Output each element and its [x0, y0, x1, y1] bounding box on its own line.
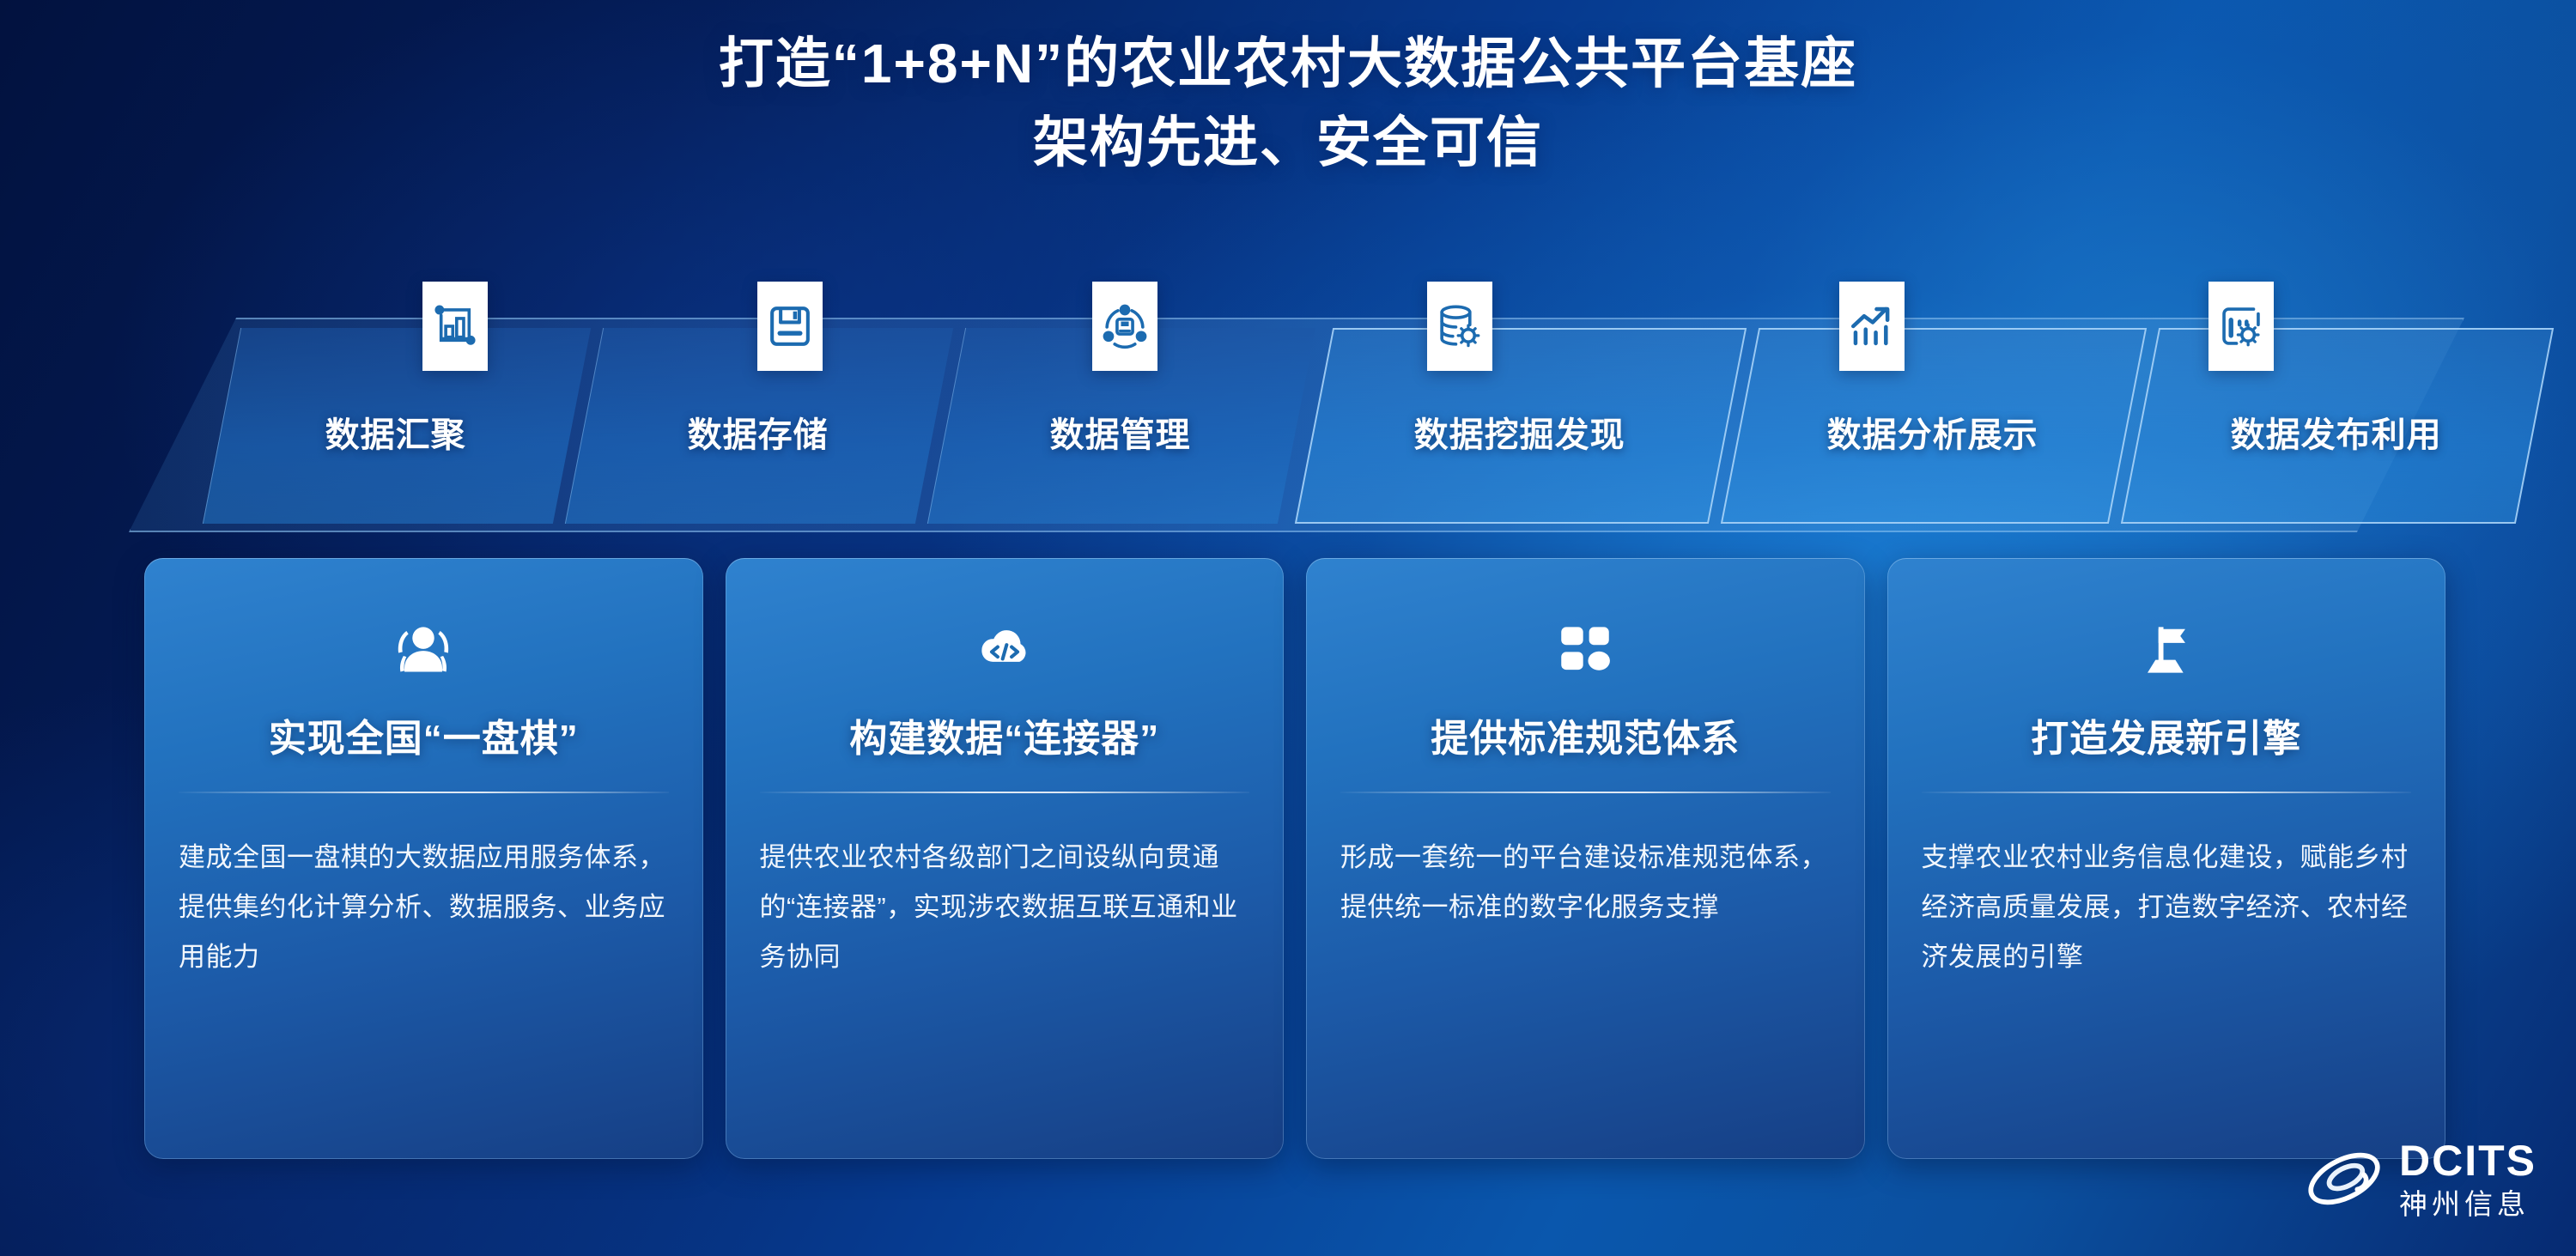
value-card-4[interactable]: 打造发展新引擎 支撑农业农村业务信息化建设，赋能乡村经济高质量发展，打造数字经济…	[1887, 558, 2446, 1159]
value-card-2-title: 构建数据“连接器”	[760, 707, 1250, 762]
pipeline-stage-5[interactable]: 数据分析展示	[1721, 328, 2147, 524]
pipeline-stage-4-label: 数据挖掘发现	[1414, 407, 1625, 457]
title-block: 打造“1+8+N”的农业农村大数据公共平台基座 架构先进、安全可信	[0, 24, 2576, 182]
value-card-3-body: 形成一套统一的平台建设标准规范体系，提供统一标准的数字化服务支撑	[1340, 833, 1831, 932]
company-logo: DCITS 神州信息	[2303, 1139, 2537, 1218]
value-card-2[interactable]: 构建数据“连接器” 提供农业农村各级部门之间设纵向贯通的“连接器”，实现涉农数据…	[726, 558, 1285, 1159]
cloud-code-icon	[760, 616, 1250, 683]
card-divider	[1340, 792, 1831, 793]
value-card-3[interactable]: 提供标准规范体系 形成一套统一的平台建设标准规范体系，提供统一标准的数字化服务支…	[1306, 558, 1865, 1159]
pipeline-stage-4[interactable]: 数据挖掘发现	[1295, 328, 1747, 524]
value-card-3-title: 提供标准规范体系	[1340, 707, 1831, 762]
flag-icon	[1922, 616, 2412, 683]
pipeline-stage-6[interactable]: 数据发布利用	[2121, 328, 2554, 524]
card-divider	[1922, 792, 2412, 793]
slide-canvas: 打造“1+8+N”的农业农村大数据公共平台基座 架构先进、安全可信 数据汇聚	[0, 0, 2576, 1256]
bar-chart-connect-icon	[422, 282, 488, 371]
logo-sub-chinese: 神州信息	[2399, 1190, 2537, 1218]
value-card-1-title: 实现全国“一盘棋”	[179, 707, 669, 762]
value-cards-row: 实现全国“一盘棋” 建成全国一盘棋的大数据应用服务体系，提供集约化计算分析、数据…	[144, 558, 2445, 1159]
logo-text: DCITS 神州信息	[2399, 1139, 2537, 1218]
value-card-1[interactable]: 实现全国“一盘棋” 建成全国一盘棋的大数据应用服务体系，提供集约化计算分析、数据…	[144, 558, 703, 1159]
database-nodes-icon	[1092, 282, 1157, 371]
pipeline-stage-1[interactable]: 数据汇聚	[203, 328, 591, 524]
swirl-at-icon	[2303, 1142, 2385, 1216]
floppy-disk-icon	[757, 282, 823, 371]
pipeline-stage-6-label: 数据发布利用	[2231, 407, 2442, 457]
grid-blocks-icon	[1340, 616, 1831, 683]
data-pipeline-banner: 数据汇聚 数据存储	[129, 283, 2464, 549]
page-subtitle: 架构先进、安全可信	[0, 103, 2576, 182]
card-divider	[760, 792, 1250, 793]
people-icon	[179, 616, 669, 683]
report-gear-icon	[2208, 282, 2274, 371]
pipeline-stage-3-label: 数据管理	[1050, 407, 1191, 457]
value-card-1-body: 建成全国一盘棋的大数据应用服务体系，提供集约化计算分析、数据服务、业务应用能力	[179, 833, 669, 982]
logo-wordmark: DCITS	[2399, 1139, 2537, 1182]
value-card-4-body: 支撑农业农村业务信息化建设，赋能乡村经济高质量发展，打造数字经济、农村经济发展的…	[1922, 833, 2412, 982]
value-card-2-body: 提供农业农村各级部门之间设纵向贯通的“连接器”，实现涉农数据互联互通和业务协同	[760, 833, 1250, 982]
value-card-4-title: 打造发展新引擎	[1922, 707, 2412, 762]
page-title: 打造“1+8+N”的农业农村大数据公共平台基座	[0, 24, 2576, 103]
trend-chart-icon	[1839, 282, 1905, 371]
pipeline-stage-1-label: 数据汇聚	[325, 407, 466, 457]
database-gear-icon	[1427, 282, 1492, 371]
pipeline-stage-2-label: 数据存储	[688, 407, 829, 457]
card-divider	[179, 792, 669, 793]
pipeline-stage-5-label: 数据分析展示	[1827, 407, 2038, 457]
